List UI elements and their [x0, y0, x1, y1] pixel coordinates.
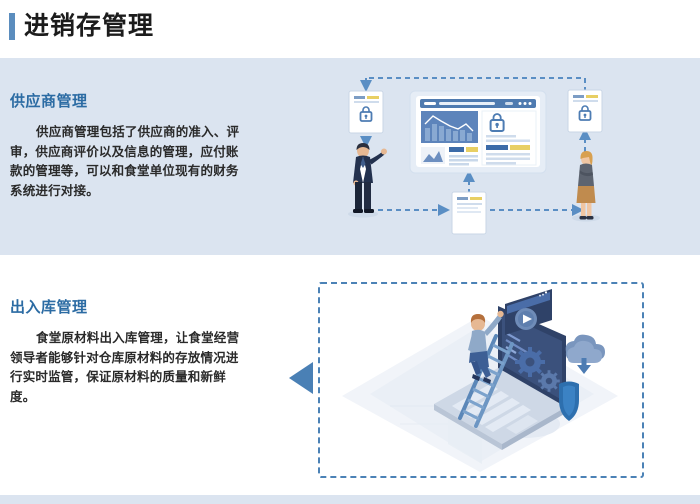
title-accent-bar — [9, 13, 15, 40]
inout-body-text: 食堂原材料出入库管理，让食堂经营领导者能够针对仓库原材料的存放情况进行实时监管，… — [10, 329, 242, 407]
warehouse-laptop-illustration — [330, 286, 630, 474]
left-pointer-triangle — [289, 362, 313, 394]
businesswoman-figure — [572, 151, 600, 222]
supplier-heading: 供应商管理 — [10, 92, 242, 112]
page-title: 进销存管理 — [24, 10, 154, 43]
supplier-dashboard-illustration — [330, 66, 620, 246]
supplier-text-block: 供应商管理 供应商管理包括了供应商的准入、评审，供应商评价以及信息的管理，应付账… — [10, 92, 242, 201]
businessman-figure — [348, 143, 387, 218]
inout-text-block: 出入库管理 食堂原材料出入库管理，让食堂经营领导者能够针对仓库原材料的存放情况进… — [10, 298, 242, 407]
supplier-body-text: 供应商管理包括了供应商的准入、评审，供应商评价以及信息的管理，应付账款的管理等，… — [10, 123, 242, 201]
footer-strip — [0, 495, 700, 504]
dashboard-browser-window — [410, 91, 546, 173]
document-card-bottom — [452, 192, 486, 234]
page-header: 进销存管理 — [0, 0, 700, 58]
document-card-lock-left — [349, 91, 383, 133]
inout-heading: 出入库管理 — [10, 298, 242, 318]
document-card-lock-right — [568, 90, 602, 132]
cloud-upload-icon — [566, 335, 605, 374]
bar-chart-with-line — [421, 111, 478, 143]
